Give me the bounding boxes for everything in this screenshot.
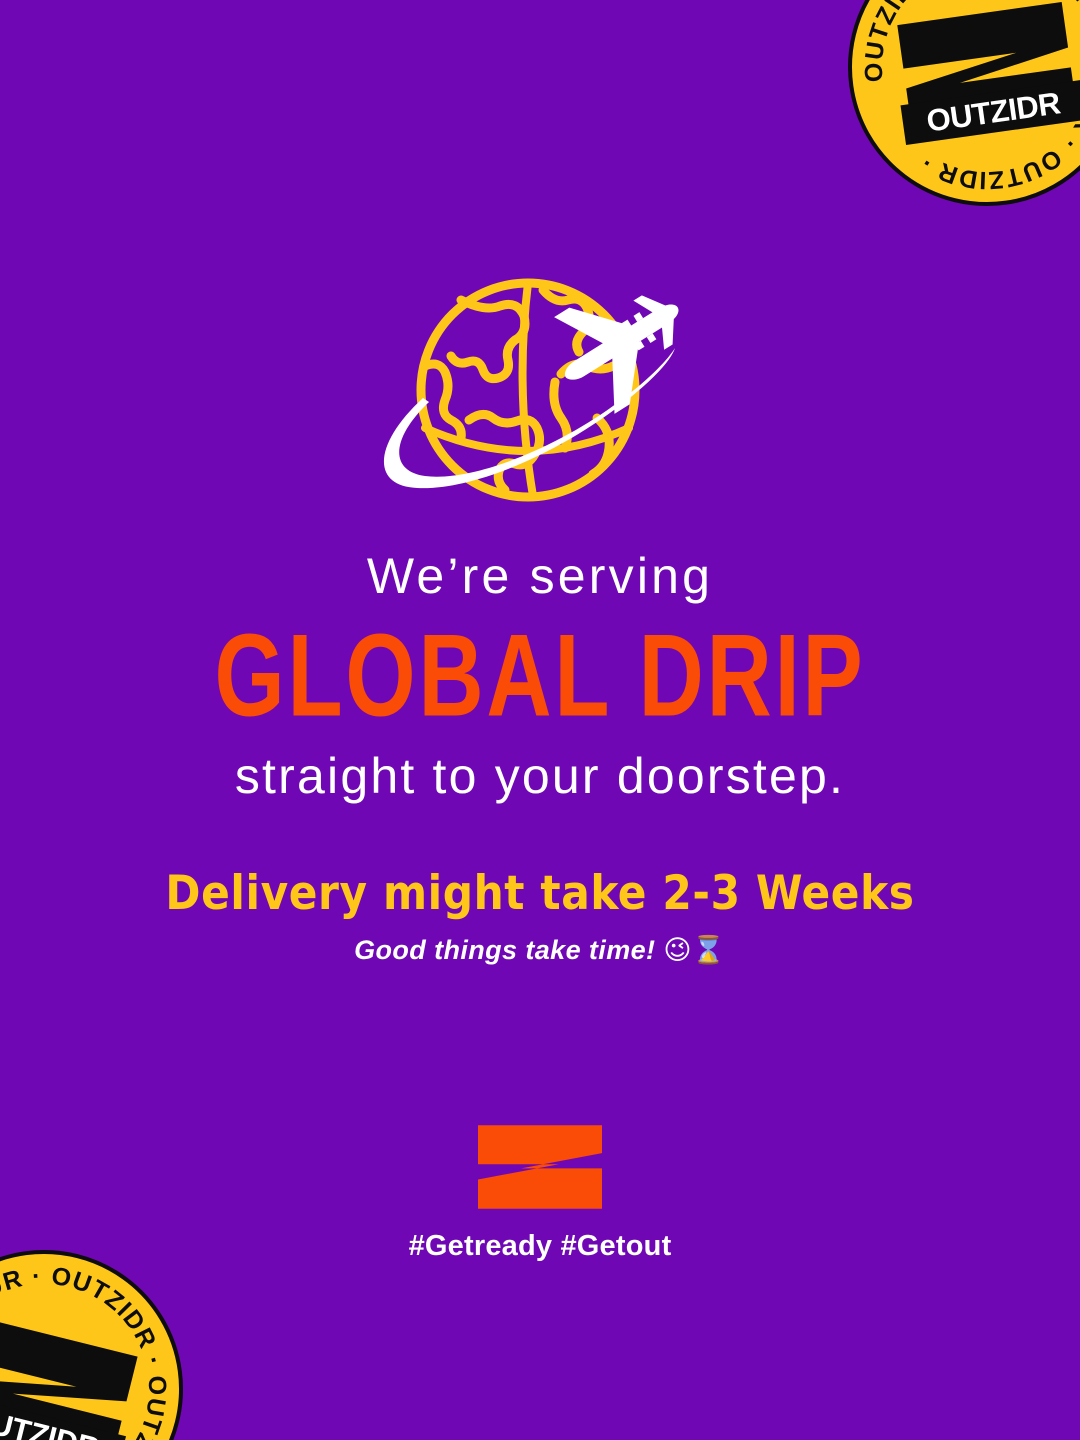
hashtags-text: #Getready #Getout — [0, 1230, 1080, 1263]
reassurance-text: Good things take time! — [354, 935, 655, 965]
delivery-notice-text: Delivery might take 2-3 Weeks — [0, 868, 1080, 920]
globe-icon — [421, 283, 635, 497]
outzidr-z-logo-icon — [478, 1120, 602, 1214]
headline-text: GLOBAL DRIP — [32, 618, 1047, 735]
promo-poster: OUTZIDR · OUTZIDR · OUTZIDR · OUTZIDR · … — [0, 0, 1080, 1440]
reassurance-line: Good things take time! 😉⌛ — [0, 934, 1080, 967]
copy-block: We’re serving GLOBAL DRIP straight to yo… — [0, 548, 1080, 967]
footer-block: #Getready #Getout — [0, 1120, 1080, 1263]
reassurance-emoji: 😉⌛ — [663, 935, 726, 966]
globe-airplane-icon — [365, 278, 715, 510]
hero-illustration — [365, 278, 715, 510]
brand-badge-top-right: OUTZIDR · OUTZIDR · OUTZIDR · OUTZIDR · … — [830, 0, 1080, 224]
eyebrow-text: We’re serving — [0, 548, 1080, 604]
subline-text: straight to your doorstep. — [0, 748, 1080, 804]
badge-core-top-right: OUTZIDR — [891, 0, 1080, 139]
